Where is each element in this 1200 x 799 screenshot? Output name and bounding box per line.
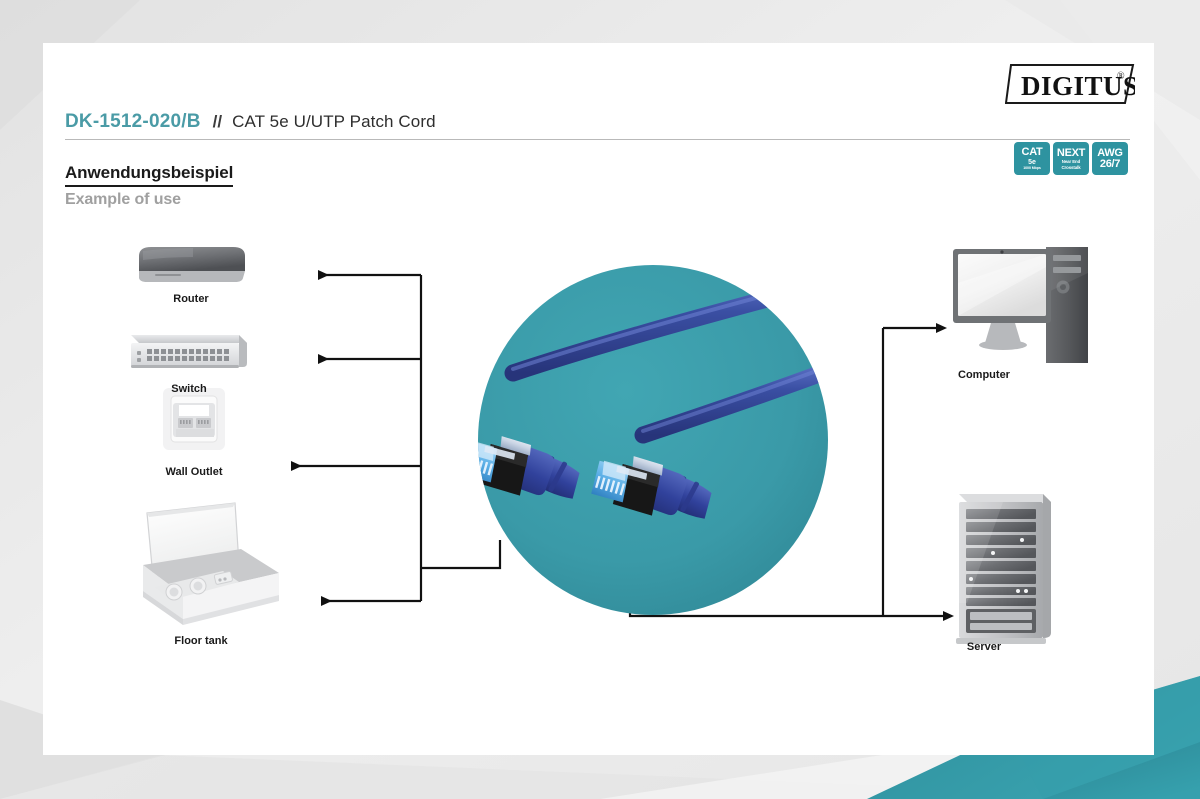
content-card: DIGITUS ® DK-1512-020/B // CAT 5e U/UTP …	[43, 43, 1154, 755]
screenshot-root: DIGITUS ® DK-1512-020/B // CAT 5e U/UTP …	[0, 0, 1200, 799]
computer-icon	[953, 247, 1088, 363]
router-icon	[139, 247, 245, 282]
computer-label: Computer	[958, 369, 1010, 381]
product-image	[452, 265, 843, 615]
switch-icon	[131, 335, 247, 368]
wall-outlet-icon	[163, 388, 225, 450]
application-diagram: Router Switch Wall Outlet Floor tank Com…	[43, 43, 1154, 755]
wall-outlet-label: Wall Outlet	[165, 466, 222, 478]
floor-tank-label: Floor tank	[174, 635, 227, 647]
router-label: Router	[173, 293, 208, 305]
connector-lines-left	[291, 275, 500, 601]
floor-tank-icon	[143, 503, 279, 625]
switch-label: Switch	[171, 383, 206, 395]
server-icon	[956, 494, 1051, 644]
server-label: Server	[967, 641, 1001, 653]
